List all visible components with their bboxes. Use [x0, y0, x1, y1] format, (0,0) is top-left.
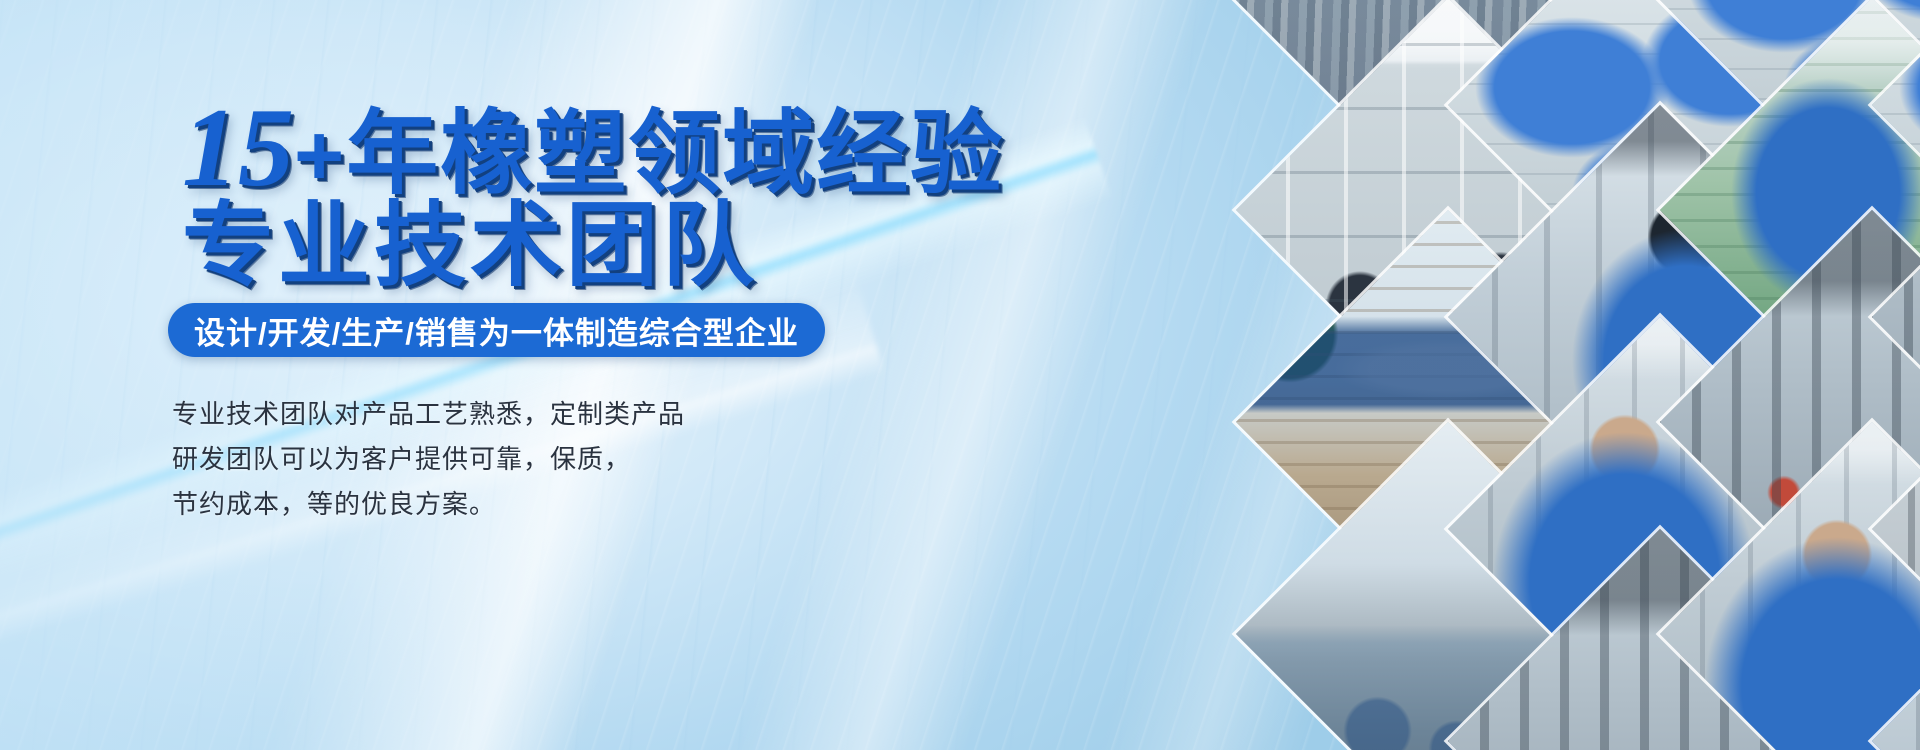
years-number: 15	[182, 86, 294, 210]
description-line-1: 专业技术团队对产品工艺熟悉，定制类产品	[172, 392, 685, 437]
hero-copy: 15+年橡塑领域经验 专业技术团队 设计/开发/生产/销售为一体制造综合型企业 …	[0, 0, 950, 750]
description-paragraph: 专业技术团队对产品工艺熟悉，定制类产品 研发团队可以为客户提供可靠，保质， 节约…	[172, 392, 685, 527]
description-line-2: 研发团队可以为客户提供可靠，保质，	[172, 437, 685, 482]
description-line-3: 节约成本，等的优良方案。	[172, 482, 685, 527]
tagline-pill-label: 设计/开发/生产/销售为一体制造综合型企业	[194, 308, 799, 353]
tagline-pill: 设计/开发/生产/销售为一体制造综合型企业	[168, 303, 825, 357]
headline-line-1-text: 年橡塑领域经验	[346, 103, 1004, 205]
headline-line-1: 15+年橡塑领域经验	[182, 92, 1004, 204]
plus-symbol: +	[294, 108, 346, 204]
hero-banner: 15+年橡塑领域经验 专业技术团队 设计/开发/生产/销售为一体制造综合型企业 …	[0, 0, 1920, 750]
headline-line-2: 专业技术团队	[182, 200, 758, 292]
